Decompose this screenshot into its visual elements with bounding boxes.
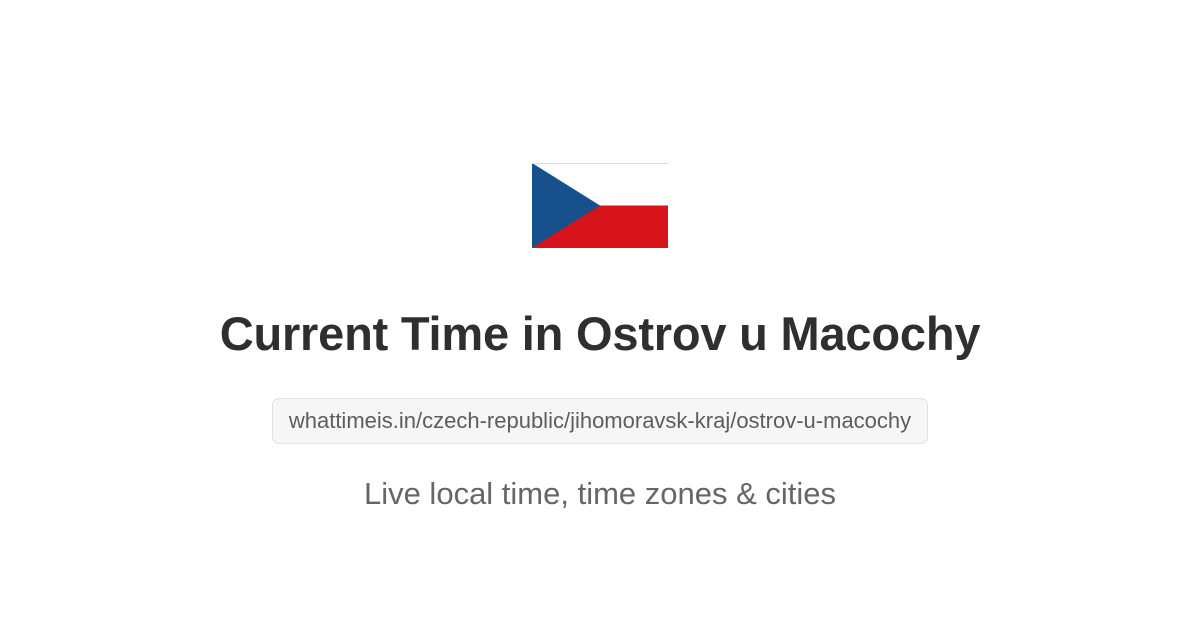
czech-republic-flag bbox=[532, 163, 668, 248]
page-subtitle: Live local time, time zones & cities bbox=[364, 475, 836, 512]
page-title: Current Time in Ostrov u Macochy bbox=[220, 308, 981, 360]
page-container: Current Time in Ostrov u Macochy whattim… bbox=[0, 0, 1200, 630]
czech-republic-flag-icon bbox=[532, 163, 668, 248]
url-text: whattimeis.in/czech-republic/jihomoravsk… bbox=[289, 410, 911, 432]
url-display-box[interactable]: whattimeis.in/czech-republic/jihomoravsk… bbox=[272, 398, 928, 444]
